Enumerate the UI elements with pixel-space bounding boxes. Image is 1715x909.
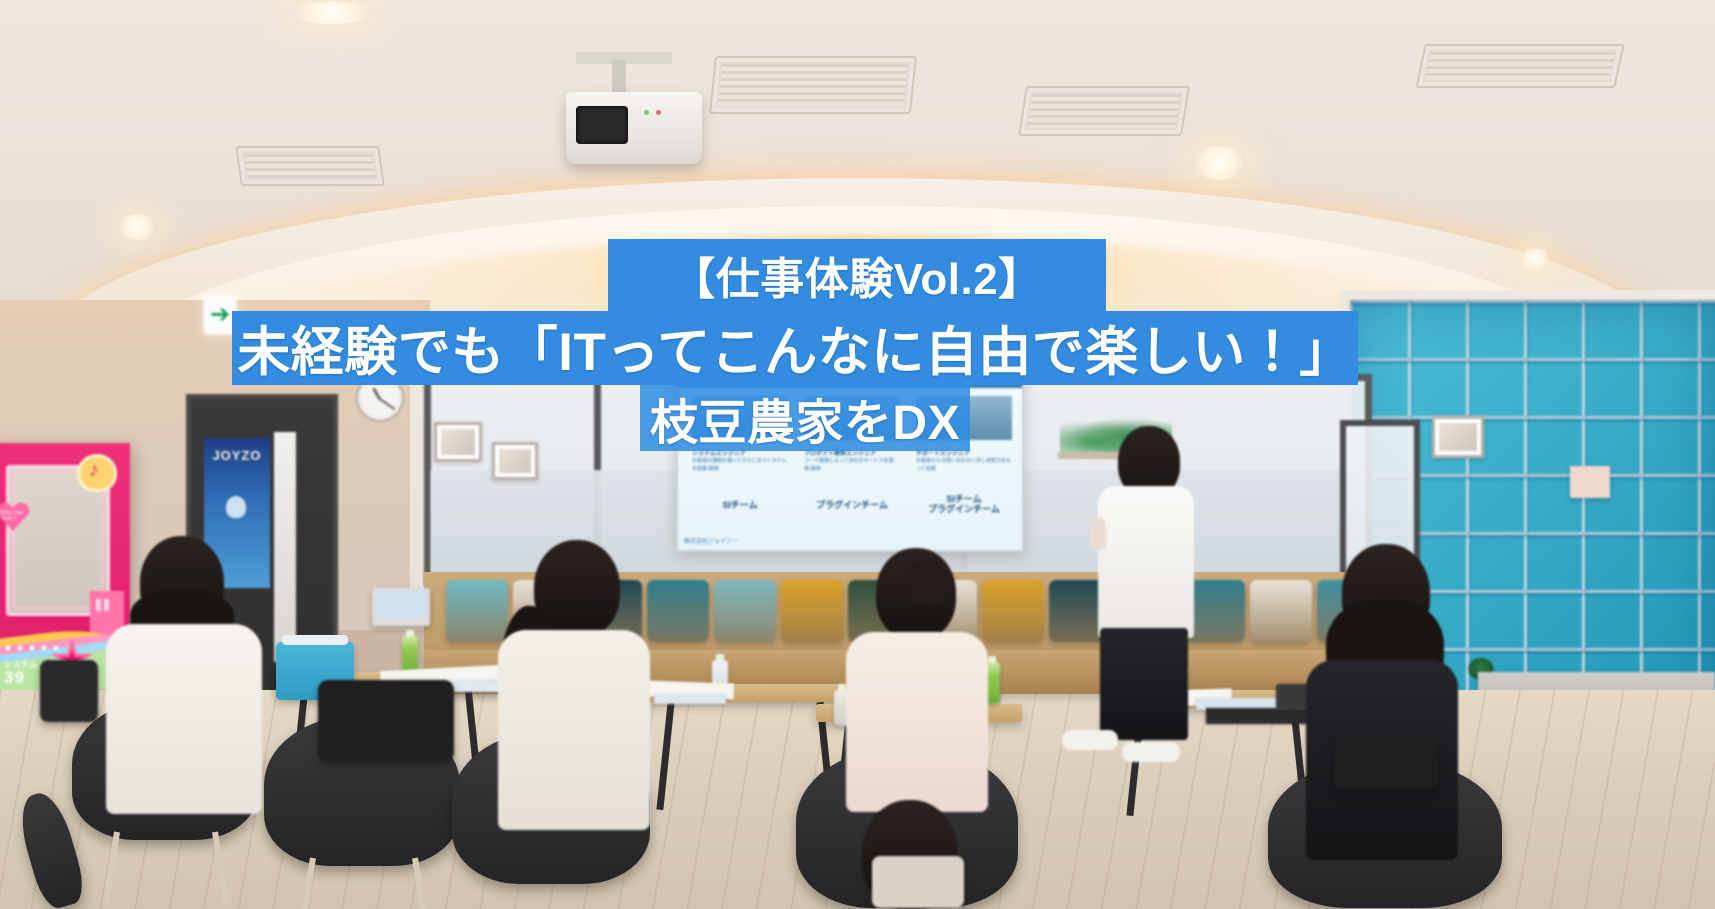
paper-4 <box>654 694 726 704</box>
slide-col3-body: お客様からの問い合わせに対し技術力をもって支援 <box>916 458 1012 473</box>
projector-lens <box>576 106 628 144</box>
bag-4 <box>40 660 98 722</box>
backpack-1 <box>318 680 454 762</box>
slide-col1-team: SIチーム <box>692 498 788 511</box>
ceiling-vent-1 <box>709 56 917 114</box>
door-sign-label: JOYZO <box>208 448 266 463</box>
attendee-3-body <box>846 632 988 812</box>
bench-cushion <box>781 580 843 642</box>
tablet-device <box>1206 708 1318 724</box>
bench-cushion <box>647 580 709 642</box>
thumbnail-image: ➔ ジョイゾーのエン <box>0 0 1715 909</box>
ceiling-vent-3 <box>235 146 385 186</box>
wall-frame-3 <box>1432 416 1484 458</box>
wall-frame-2 <box>492 442 538 480</box>
emergency-exit-icon: ➔ <box>204 296 236 334</box>
standee-system-number: 39 <box>4 669 38 687</box>
presentation-slide: ジョイゾーのエンジニア システムエンジニア お客様の課題を聞いてそれに合うシステ… <box>678 362 1022 550</box>
photo-scene: ➔ ジョイゾーのエン <box>0 0 1715 909</box>
tile-shelf-picture <box>1570 466 1610 498</box>
presenter-shirt <box>1098 486 1194 638</box>
bench-cushion <box>446 580 508 642</box>
slide-footer: 株式会社ジョイゾー <box>684 536 738 545</box>
presenter-shoe-r <box>1122 742 1180 762</box>
slide-col1-title: システムエンジニア <box>692 448 788 457</box>
downlight-5 <box>1518 248 1552 268</box>
presenter-shoe-l <box>1062 730 1118 750</box>
laptop <box>372 588 430 626</box>
bag-3 <box>872 856 964 908</box>
bench-cushion <box>1250 580 1312 642</box>
attendee-1-body <box>106 624 262 814</box>
downlight-1 <box>116 214 158 240</box>
slide-col3-title: サポートエンジニア <box>916 448 1012 457</box>
standee-system-label: システム 39 <box>4 661 38 687</box>
bench-cushion <box>982 580 1044 642</box>
slide-photo-3 <box>916 396 1012 440</box>
attendee-3-hair-bun <box>906 560 952 604</box>
ceiling-vent-2 <box>1018 86 1190 136</box>
slide-photo-2 <box>804 396 900 440</box>
projector-led-2 <box>656 110 661 115</box>
wall-clock <box>356 374 404 422</box>
slide-col2-team: プラグインチーム <box>804 498 900 511</box>
bench-cushion <box>714 580 776 642</box>
downlight-3 <box>1190 146 1248 180</box>
music-note-icon <box>80 457 114 489</box>
attendee-2-body <box>498 630 650 830</box>
door-glass-strip <box>274 432 296 662</box>
presenter-pants <box>1100 628 1188 740</box>
ceiling-vent-4 <box>1415 44 1624 88</box>
clock-hand-minute <box>379 398 395 410</box>
door-poster-surfer <box>226 496 246 518</box>
slide-col2-body: コード開発によって自社のサービスを開発・運用 <box>804 458 900 473</box>
bag-2 <box>1334 736 1438 788</box>
slide-col3-team: SIチーム プラグインチーム <box>916 494 1012 515</box>
projector-led <box>644 110 649 115</box>
downlight-4 <box>284 2 380 24</box>
slide-col1-body: お客様の課題を聞いてそれに合うシステムを提案・開発 <box>692 458 788 473</box>
projection-screen: ジョイゾーのエンジニア システムエンジニア お客様の課題を聞いてそれに合うシステ… <box>676 360 1024 552</box>
wall-frame-1 <box>434 422 482 462</box>
slide-header-text: ジョイゾーのエンジニア <box>686 366 796 379</box>
presenter-hand-remote <box>1090 518 1106 550</box>
standee-dot-row <box>2 643 64 653</box>
slide-col2-title: プロダクト開発エンジニア <box>804 448 900 457</box>
slide-photo-1 <box>692 396 788 440</box>
ceiling-projector <box>566 92 702 164</box>
